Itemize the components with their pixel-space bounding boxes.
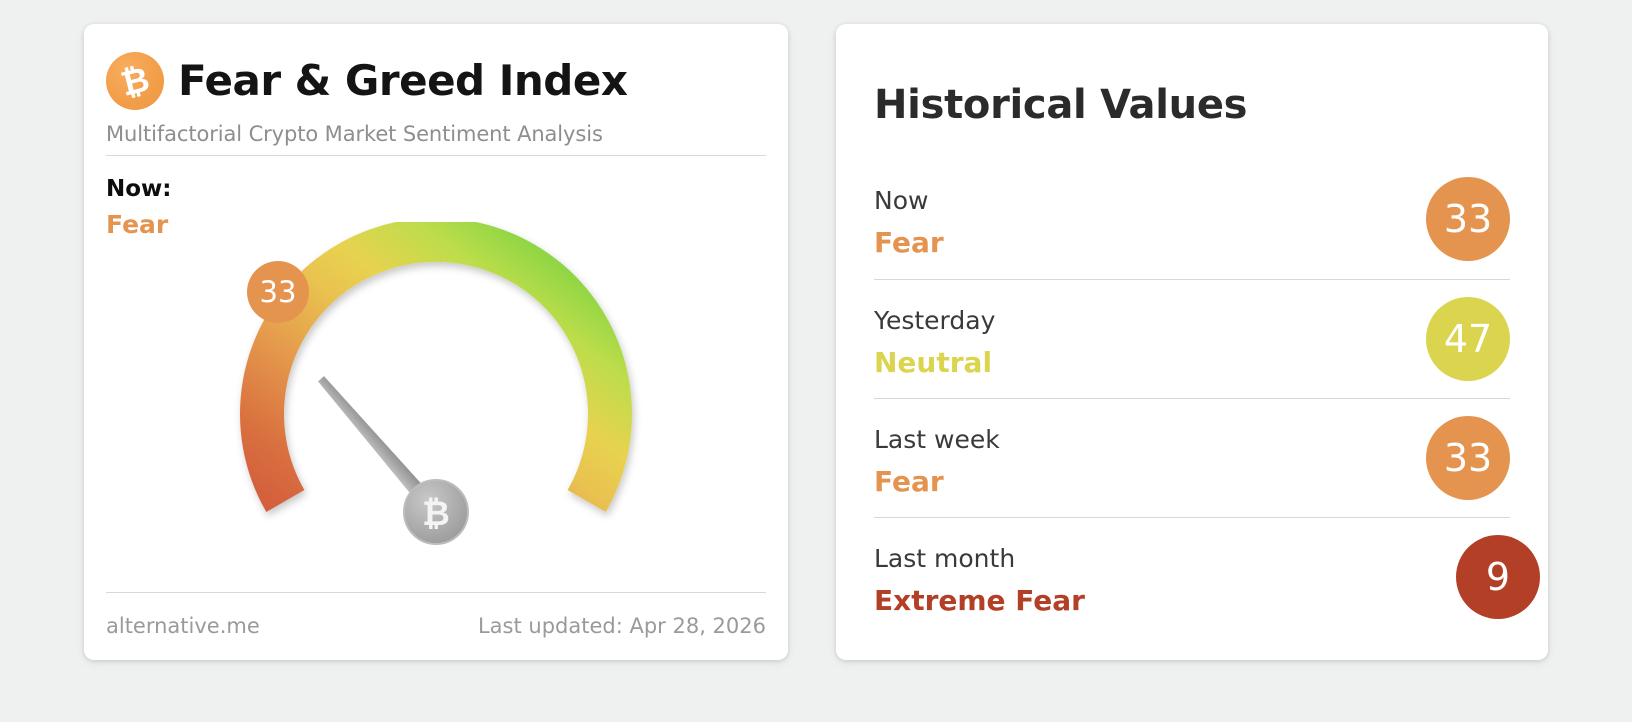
history-value-text: 9	[1486, 558, 1510, 596]
gauge-value-badge: 33	[247, 261, 309, 323]
fear-greed-dashboard: ₿ Fear & Greed Index Multifactorial Cryp…	[0, 0, 1632, 722]
footer-last-updated: Last updated: Apr 28, 2026	[478, 614, 766, 638]
bitcoin-icon: ₿	[106, 52, 164, 110]
gauge-arc	[240, 222, 632, 512]
fear-greed-index-card: ₿ Fear & Greed Index Multifactorial Cryp…	[84, 24, 788, 660]
history-period: Yesterday	[874, 306, 995, 335]
list-item: Now Fear 33	[874, 160, 1510, 279]
footer-divider	[106, 592, 766, 593]
gauge-card-inner: ₿ Fear & Greed Index Multifactorial Cryp…	[106, 24, 766, 660]
history-value-badge: 33	[1426, 416, 1510, 500]
header-divider	[106, 155, 766, 156]
history-classification: Extreme Fear	[874, 584, 1085, 617]
history-value-badge: 47	[1426, 297, 1510, 381]
historical-values-title: Historical Values	[874, 82, 1247, 128]
list-item: Yesterday Neutral 47	[874, 279, 1510, 398]
history-value-text: 33	[1444, 200, 1492, 238]
history-classification: Fear	[874, 465, 944, 498]
history-value-badge: 9	[1456, 535, 1540, 619]
svg-text:₿: ₿	[117, 59, 154, 105]
history-value-text: 33	[1444, 439, 1492, 477]
historical-values-list: Now Fear 33 Yesterday Neutral 47 Last we…	[874, 160, 1510, 636]
history-value-text: 47	[1444, 320, 1492, 358]
footer-source[interactable]: alternative.me	[106, 614, 260, 638]
now-classification: Fear	[106, 210, 168, 239]
history-classification: Fear	[874, 226, 944, 259]
gauge-value-text: 33	[260, 275, 297, 309]
list-item: Last month Extreme Fear 9	[874, 517, 1510, 636]
history-period: Now	[874, 186, 928, 215]
history-value-badge: 33	[1426, 177, 1510, 261]
now-label: Now:	[106, 176, 172, 202]
historical-values-card: Historical Values Now Fear 33 Yesterday …	[836, 24, 1548, 660]
list-item: Last week Fear 33	[874, 398, 1510, 517]
history-period: Last month	[874, 544, 1015, 573]
history-classification: Neutral	[874, 346, 992, 379]
card-subtitle: Multifactorial Crypto Market Sentiment A…	[106, 122, 603, 146]
history-period: Last week	[874, 425, 1000, 454]
page-title: Fear & Greed Index	[178, 60, 627, 102]
card-header: ₿ Fear & Greed Index	[106, 52, 627, 110]
bitcoin-hub-icon: ₿	[422, 494, 450, 534]
card-footer: alternative.me Last updated: Apr 28, 202…	[106, 614, 766, 638]
